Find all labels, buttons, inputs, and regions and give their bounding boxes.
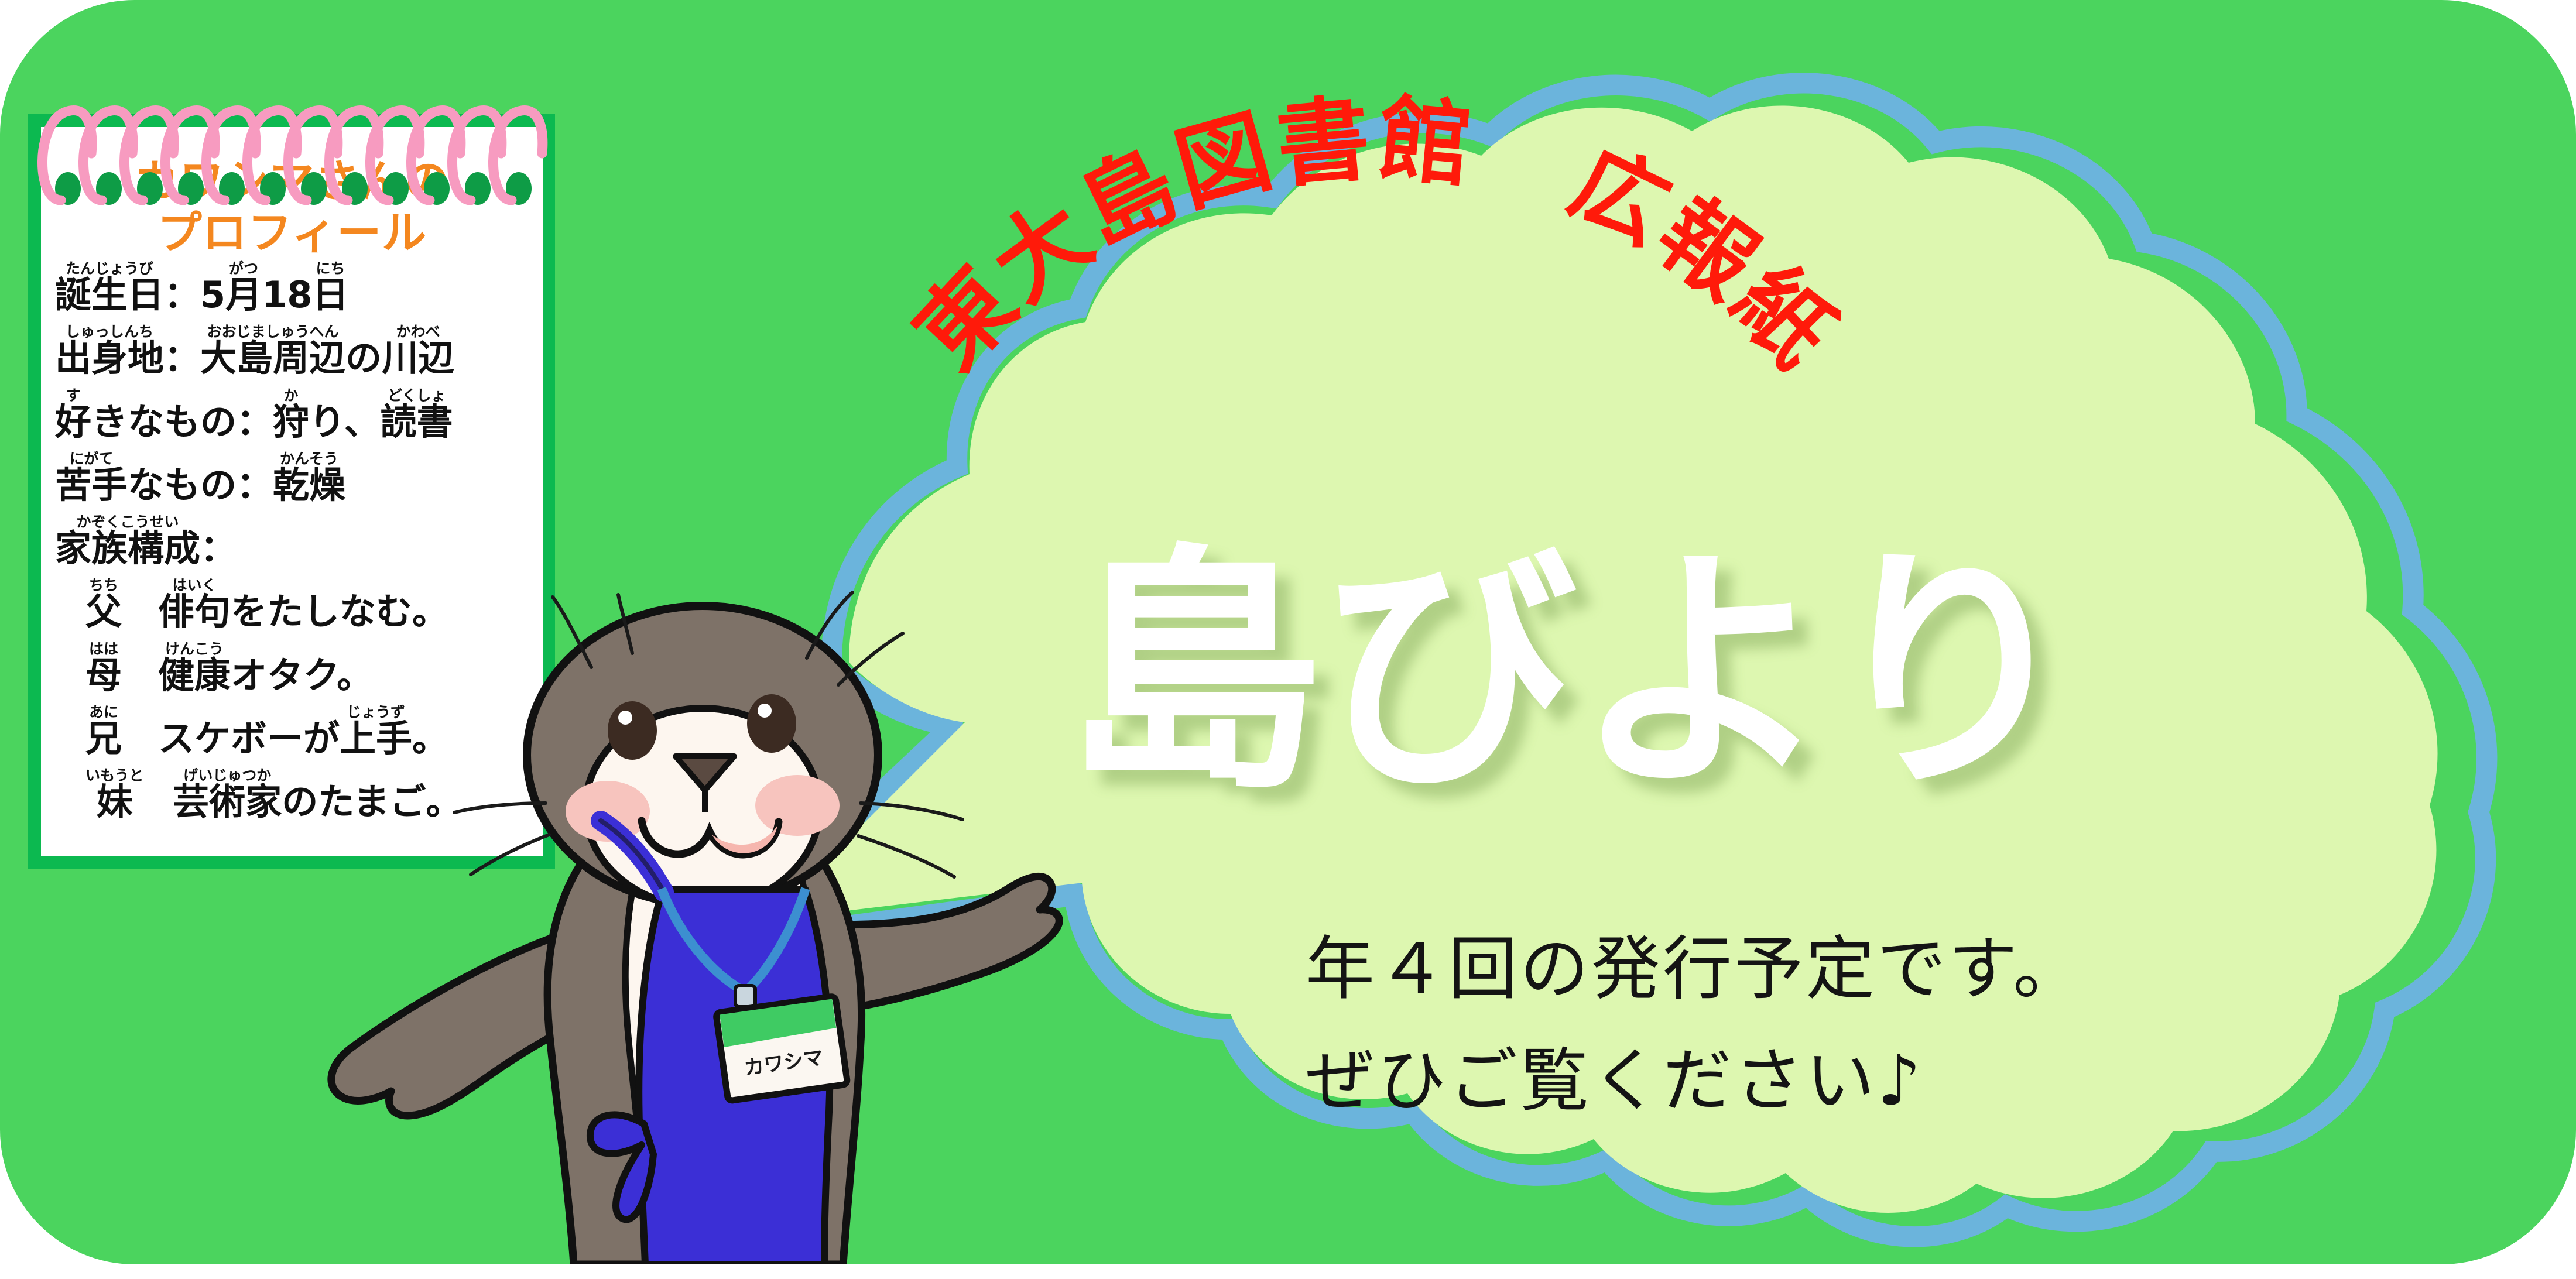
profile-row-birthplace: 出身地しゅっしんち：大島周辺おおじましゅうへんの川辺かわべ [55, 324, 537, 376]
main-title: 島びより [1066, 544, 2014, 802]
otter-eye-right [747, 694, 796, 753]
tagline: 年４回の発行予定です。 ぜひご覧ください♪ [1306, 913, 2084, 1137]
newsletter-banner: 東大島図書館 広報紙 島びより 年４回の発行予定です。 ぜひご覧ください♪ カワ… [0, 0, 2576, 1279]
tagline-line-2: ぜひご覧ください♪ [1306, 1025, 2084, 1137]
spiral-binding [22, 88, 561, 222]
tagline-line-1: 年４回の発行予定です。 [1306, 913, 2084, 1025]
profile-row-likes: 好すきなもの：狩かり、読書どくしょ [55, 388, 537, 440]
otter-eye-left [608, 701, 657, 760]
otter-lanyard-clip [735, 986, 755, 1007]
otter-mascot: カワシマ [316, 597, 1136, 1264]
otter-name-badge: カワシマ [716, 996, 848, 1101]
otter-cheek-right [755, 775, 840, 836]
profile-row-birthday: 誕生日たんじょうび：5月がつ18日にち [55, 260, 537, 313]
profile-row-dislikes: 苦手にがてなもの：乾燥かんそう [55, 451, 537, 503]
banner-background: 東大島図書館 広報紙 島びより 年４回の発行予定です。 ぜひご覧ください♪ カワ… [0, 0, 2576, 1264]
profile-row-family: 家族構成かぞくこうせい： [55, 514, 537, 567]
